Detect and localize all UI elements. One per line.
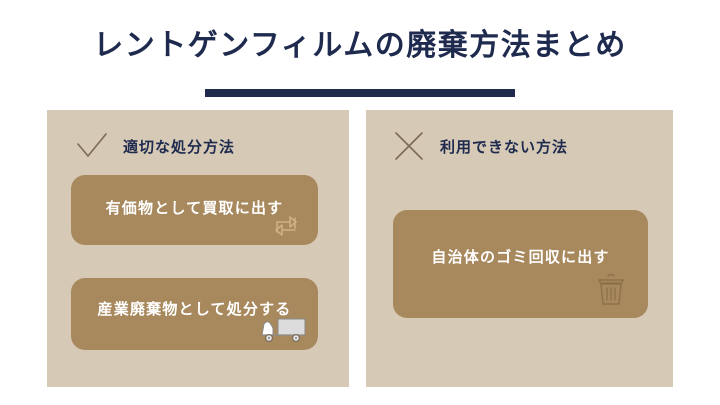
card-industrial-waste[interactable]: 産業廃棄物として処分する [71, 278, 318, 350]
panel-appropriate-methods: 適切な処分方法 有価物として買取に出す 産業廃棄物として処分する [47, 110, 349, 387]
panel-header-appropriate: 適切な処分方法 [73, 127, 235, 165]
trash-icon [596, 272, 626, 308]
cross-icon [390, 127, 428, 165]
slide-root: レントゲンフィルムの廃棄方法まとめ 適切な処分方法 有価物として買取に出す [0, 0, 720, 405]
panel-header-label: 利用できない方法 [440, 136, 568, 157]
panel-header-unavailable: 利用できない方法 [390, 127, 568, 165]
card-municipal-collection[interactable]: 自治体のゴミ回収に出す [393, 210, 648, 318]
page-title: レントゲンフィルムの廃棄方法まとめ [0, 28, 720, 64]
panels-container: 適切な処分方法 有価物として買取に出す 産業廃棄物として処分する [47, 110, 673, 387]
panel-header-label: 適切な処分方法 [123, 136, 235, 157]
check-icon [73, 127, 111, 165]
title-block: レントゲンフィルムの廃棄方法まとめ [0, 28, 720, 64]
title-underline-rule [205, 89, 515, 97]
truck-icon [256, 315, 308, 345]
card-municipal-collection-label: 自治体のゴミ回収に出す [393, 246, 648, 267]
panel-unavailable-methods: 利用できない方法 自治体のゴミ回収に出す [366, 110, 673, 387]
recycle-icon [270, 209, 302, 241]
card-buyback[interactable]: 有価物として買取に出す [71, 175, 318, 245]
